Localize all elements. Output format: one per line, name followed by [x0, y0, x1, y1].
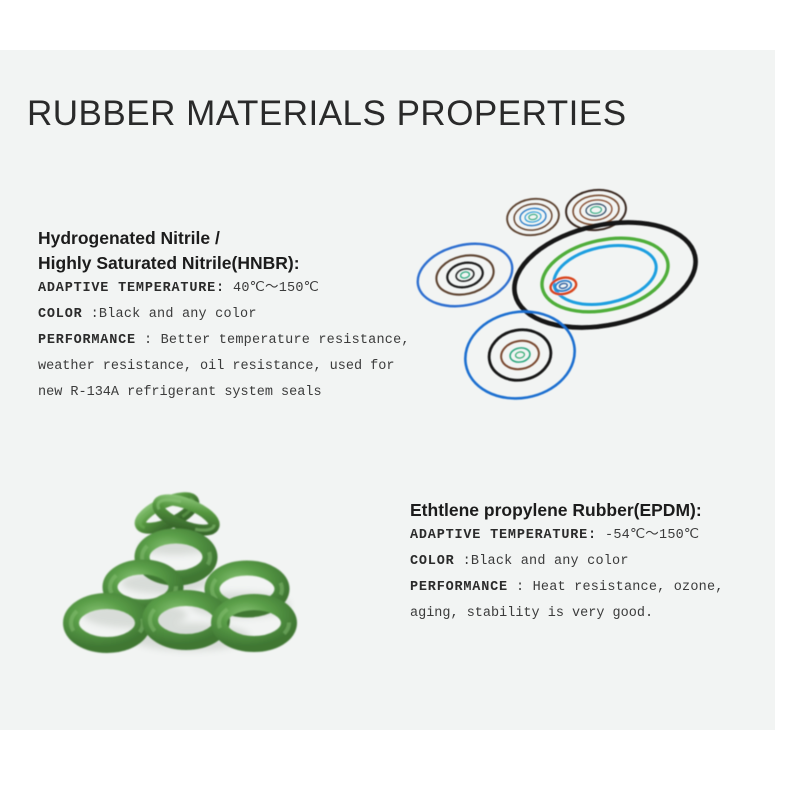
- hnbr-performance-continuation-2: new R-134A refrigerant system seals: [38, 380, 418, 406]
- epdm-spec-color: COLOR :Black and any color: [410, 549, 770, 575]
- epdm-color-value: :Black and any color: [463, 554, 629, 569]
- assorted-o-rings-photo: [400, 180, 715, 435]
- green-o-rings-photo: [55, 465, 325, 665]
- oring-nest-top-left: [505, 196, 562, 239]
- hnbr-temperature-value: 40℃～150℃: [233, 281, 319, 296]
- epdm-spec-temperature: ADAPTIVE TEMPERATURE: -54℃～150℃: [410, 523, 770, 549]
- epdm-temperature-value: -54℃～150℃: [605, 528, 699, 543]
- material-block-epdm: Ethtlene propylene Rubber(EPDM): ADAPTIV…: [410, 498, 770, 627]
- oring-nest-left: [411, 235, 518, 315]
- hnbr-spec-temperature: ADAPTIVE TEMPERATURE: 40℃～150℃: [38, 276, 418, 302]
- hnbr-color-value: :Black and any color: [91, 307, 257, 322]
- hnbr-color-label: COLOR: [38, 307, 83, 322]
- page-title: RUBBER MATERIALS PROPERTIES: [27, 94, 627, 134]
- page-root: RUBBER MATERIALS PROPERTIES Hydrogenated…: [0, 0, 787, 787]
- epdm-temperature-label: ADAPTIVE TEMPERATURE:: [410, 528, 597, 543]
- hnbr-temperature-label: ADAPTIVE TEMPERATURE:: [38, 281, 225, 296]
- epdm-heading-line1: Ethtlene propylene Rubber(EPDM):: [410, 498, 770, 523]
- hnbr-performance-label: PERFORMANCE: [38, 333, 136, 348]
- epdm-color-label: COLOR: [410, 554, 455, 569]
- epdm-performance-continuation-1: aging, stability is very good.: [410, 601, 770, 627]
- epdm-performance-label: PERFORMANCE: [410, 580, 508, 595]
- hnbr-spec-color: COLOR :Black and any color: [38, 302, 418, 328]
- oring-nest-center-large: [505, 207, 706, 343]
- hnbr-heading-line2: Highly Saturated Nitrile(HNBR):: [38, 251, 418, 276]
- material-block-hnbr: Hydrogenated Nitrile / Highly Saturated …: [38, 226, 418, 406]
- epdm-spec-performance: PERFORMANCE : Heat resistance, ozone,: [410, 575, 770, 601]
- epdm-performance-value: : Heat resistance, ozone,: [516, 580, 724, 595]
- hnbr-performance-value: : Better temperature resistance,: [144, 333, 410, 348]
- hnbr-heading-line1: Hydrogenated Nitrile /: [38, 226, 418, 251]
- oring-nest-bottom: [458, 303, 581, 407]
- hnbr-performance-continuation-1: weather resistance, oil resistance, used…: [38, 354, 418, 380]
- hnbr-spec-performance: PERFORMANCE : Better temperature resista…: [38, 328, 418, 354]
